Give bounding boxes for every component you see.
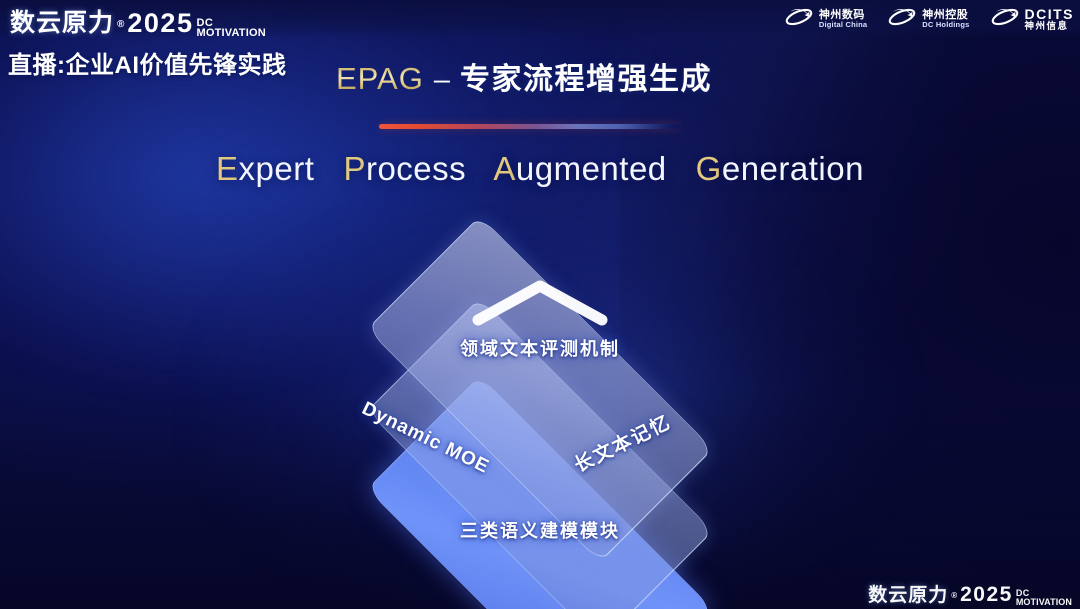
chevron-up-icon	[468, 274, 612, 330]
layered-stack-diagram: 领域文本评测机制 Dynamic MOE 长文本记忆 三类语义建模模块	[245, 222, 835, 582]
brand-dc-line2: MOTIVATION	[196, 28, 265, 38]
slide-subtitle: Expert Process Augmented Generation	[0, 150, 1080, 188]
subtitle-space-3	[676, 150, 686, 187]
partner-logo-digital-china: 神州数码 Digital China	[784, 5, 867, 34]
partner-logo-group: 神州数码 Digital China 神州控股 DC Holdings	[784, 5, 1074, 34]
partner-name-en: 神州信息	[1025, 22, 1075, 32]
partner-text-block: 神州数码 Digital China	[819, 10, 867, 29]
brand-dc-motivation: DC MOTIVATION	[1016, 589, 1072, 606]
partner-name-en: DC Holdings	[922, 21, 969, 29]
brand-year: 2025	[960, 583, 1013, 607]
stack-layer-top-label: 领域文本评测机制	[245, 335, 835, 361]
live-broadcast-banner: 直播:企业AI价值先锋实践	[8, 45, 287, 80]
subtitle-space-2	[476, 150, 486, 187]
subtitle-word-process: Process	[343, 150, 466, 187]
brand-registered-mark: ®	[951, 591, 957, 600]
partner-name-en: Digital China	[819, 21, 867, 29]
title-dash: –	[434, 64, 450, 97]
brand-year: 2025	[127, 8, 193, 39]
brand-registered-mark: ®	[117, 19, 124, 30]
brand-name-cn: 数云原力	[868, 580, 948, 607]
subtitle-cap-a: A	[493, 150, 516, 187]
title-divider	[379, 124, 679, 129]
brand-name-cn: 数云原力	[10, 3, 114, 39]
title-acronym: EPAG	[336, 61, 424, 97]
slide-title: EPAG – 专家流程增强生成	[336, 54, 712, 98]
subtitle-space-1	[324, 150, 334, 187]
subtitle-word-expert: Expert	[216, 150, 314, 187]
brand-logo-watermark: 数云原力 ® 2025 DC MOTIVATION	[868, 580, 1072, 607]
partner-text-block: 神州控股 DC Holdings	[922, 10, 969, 29]
subtitle-cap-p: P	[343, 150, 366, 187]
partner-text-block: DCITS 神州信息	[1025, 7, 1075, 32]
subtitle-rest-expert: xpert	[239, 150, 315, 187]
partner-logo-dc-holdings: 神州控股 DC Holdings	[887, 5, 969, 34]
subtitle-rest-process: rocess	[366, 150, 466, 187]
subtitle-word-augmented: Augmented	[493, 150, 666, 187]
brand-dc-line2: MOTIVATION	[1016, 598, 1072, 606]
presentation-slide: 数云原力 ® 2025 DC MOTIVATION 直播:企业AI价值先锋实践 …	[0, 0, 1080, 609]
subtitle-rest-generation: eneration	[722, 150, 864, 187]
brand-dc-motivation: DC MOTIVATION	[196, 18, 265, 38]
partner-name-cn: DCITS	[1025, 7, 1075, 22]
swirl-icon	[887, 5, 917, 34]
swirl-icon	[784, 5, 814, 34]
partner-logo-dcits: DCITS 神州信息	[990, 5, 1075, 34]
stack-layer-bottom-label: 三类语义建模模块	[245, 517, 835, 543]
subtitle-cap-g: G	[696, 150, 722, 187]
subtitle-word-generation: Generation	[696, 150, 864, 187]
swirl-icon	[990, 5, 1020, 34]
brand-logo-top: 数云原力 ® 2025 DC MOTIVATION	[10, 3, 266, 39]
subtitle-cap-e: E	[216, 150, 239, 187]
title-chinese: 专家流程增强生成	[460, 54, 712, 98]
subtitle-rest-augmented: ugmented	[516, 150, 667, 187]
